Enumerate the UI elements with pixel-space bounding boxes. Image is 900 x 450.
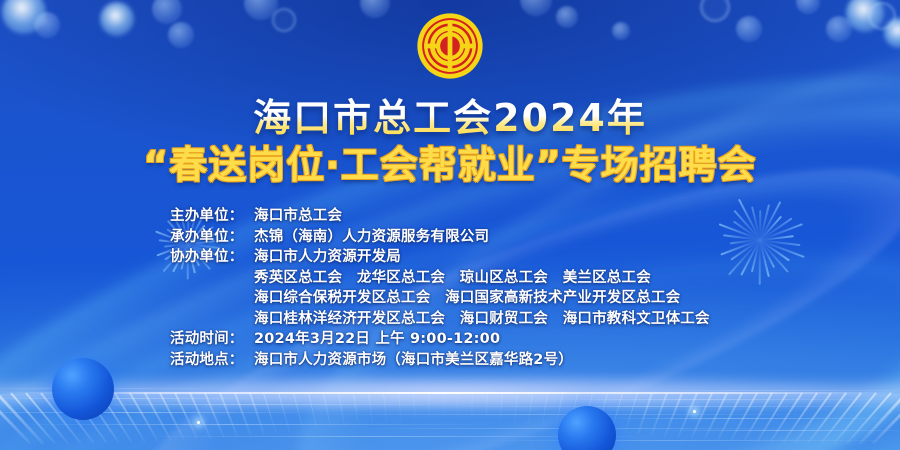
poster-title-group: 海口市总工会2024年 “春送岗位·工会帮就业”专场招聘会 [0, 98, 900, 186]
info-row: 主办单位：海口综合保税开发区总工会 海口国家高新技术产业开发区总工会 [170, 288, 730, 309]
info-row: 活动时间：2024年3月22日 上午 9:00-12:00 [170, 329, 730, 350]
info-row-value: 海口桂林洋经济开发区总工会 海口财贸工会 海口市教科文卫体工会 [254, 309, 730, 330]
info-row-value: 海口综合保税开发区总工会 海口国家高新技术产业开发区总工会 [254, 288, 730, 309]
info-row-value: 海口市人力资源市场（海口市美兰区嘉华路2号） [254, 350, 730, 371]
sparkle-right [693, 410, 696, 413]
event-info-block: 主办单位：海口市总工会承办单位：杰锦（海南）人力资源服务有限公司协办单位：海口市… [0, 206, 900, 370]
info-row-value: 海口市总工会 [254, 206, 730, 227]
acftu-union-emblem [416, 12, 484, 80]
info-row: 协办单位：海口市人力资源开发局 [170, 247, 730, 268]
horizon-line [0, 392, 900, 394]
info-row: 承办单位：杰锦（海南）人力资源服务有限公司 [170, 227, 730, 248]
info-row-value: 杰锦（海南）人力资源服务有限公司 [254, 227, 730, 248]
title-line-2: “春送岗位·工会帮就业”专场招聘会 [0, 145, 900, 186]
info-row-value: 2024年3月22日 上午 9:00-12:00 [254, 329, 730, 350]
info-row-value: 海口市人力资源开发局 [254, 247, 730, 268]
info-row: 主办单位：海口市总工会 [170, 206, 730, 227]
info-row: 主办单位：海口桂林洋经济开发区总工会 海口财贸工会 海口市教科文卫体工会 [170, 309, 730, 330]
info-row-value: 秀英区总工会 龙华区总工会 琼山区总工会 美兰区总工会 [254, 268, 730, 289]
info-row: 活动地点：海口市人力资源市场（海口市美兰区嘉华路2号） [170, 350, 730, 371]
info-row-label: 主办单位： [170, 206, 254, 227]
sparkle-left [197, 421, 200, 424]
info-row: 主办单位：秀英区总工会 龙华区总工会 琼山区总工会 美兰区总工会 [170, 268, 730, 289]
info-row-label: 协办单位： [170, 247, 254, 268]
info-row-label: 承办单位： [170, 227, 254, 248]
title-line-1: 海口市总工会2024年 [0, 98, 900, 139]
recruitment-poster: 海口市总工会2024年 “春送岗位·工会帮就业”专场招聘会 主办单位：海口市总工… [0, 0, 900, 450]
info-row-label: 活动地点： [170, 350, 254, 371]
info-row-label: 活动时间： [170, 329, 254, 350]
